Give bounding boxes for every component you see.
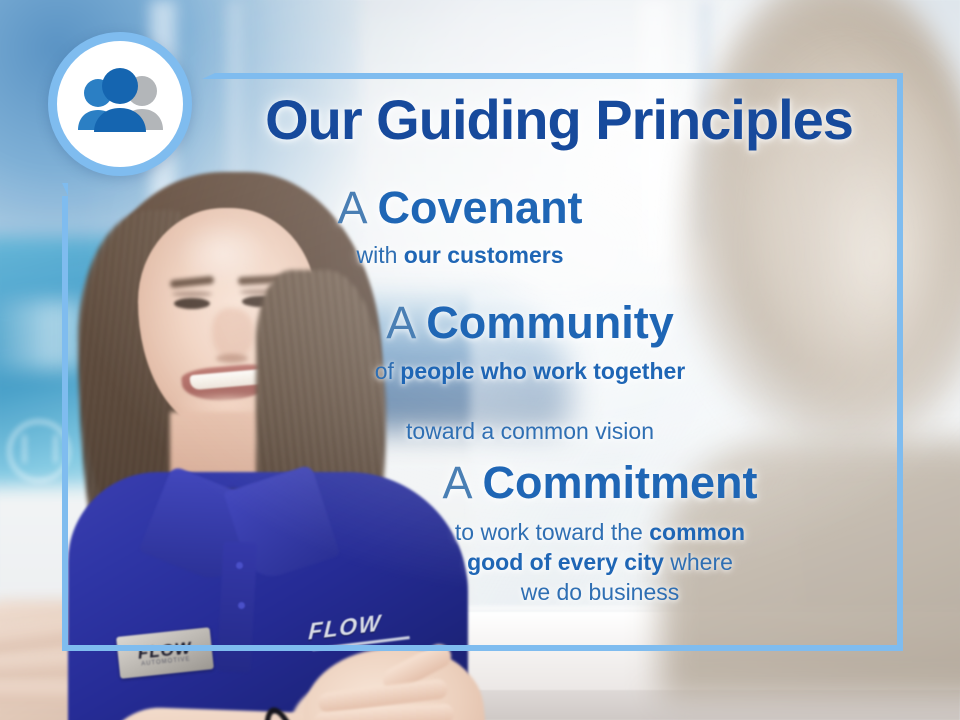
- principle-covenant-body: with our customers: [200, 241, 720, 271]
- polo-button: [236, 562, 243, 569]
- principle-commitment-body-lead: to work toward the: [455, 519, 649, 545]
- principle-covenant-keyword: Covenant: [378, 182, 583, 233]
- principle-commitment-body-bold-2: good of every city: [467, 549, 664, 575]
- eyelid-left: [172, 291, 212, 297]
- page-title: Our Guiding Principles: [215, 92, 903, 148]
- group-of-people-icon: [68, 68, 172, 140]
- principle-community-heading: A Community: [230, 300, 830, 347]
- principle-covenant-body-plain: with: [356, 242, 403, 268]
- polo-placket: [217, 541, 258, 673]
- eye-left: [174, 298, 210, 309]
- principle-community-body-bold: people who work together: [400, 358, 685, 384]
- principle-community-article: A: [386, 297, 414, 348]
- principle-commitment-body-bold-1: common: [649, 519, 745, 545]
- principle-community-keyword: Community: [426, 297, 674, 348]
- principle-commitment-keyword: Commitment: [483, 457, 758, 508]
- principle-commitment-article: A: [442, 457, 470, 508]
- principle-covenant-heading: A Covenant: [200, 185, 720, 232]
- polo-button: [238, 602, 245, 609]
- principle-community-body-tail: toward a common vision: [406, 418, 654, 444]
- principle-covenant-body-bold: our customers: [404, 242, 564, 268]
- principle-commitment: A Commitment to work toward the common g…: [290, 460, 910, 607]
- group-of-people-badge: [48, 32, 192, 176]
- principle-commitment-heading: A Commitment: [290, 460, 910, 507]
- principle-community-body-lead: of: [375, 358, 401, 384]
- principle-covenant-article: A: [337, 182, 365, 233]
- guiding-principles-graphic: FLOW AUTOMOTIVE FLOW: [0, 0, 960, 720]
- principle-commitment-body: to work toward the common good of every …: [290, 518, 910, 608]
- principle-covenant: A Covenant with our customers: [200, 185, 720, 271]
- principle-community: A Community of people who work together …: [230, 300, 830, 446]
- principle-community-body: of people who work together toward a com…: [230, 357, 830, 447]
